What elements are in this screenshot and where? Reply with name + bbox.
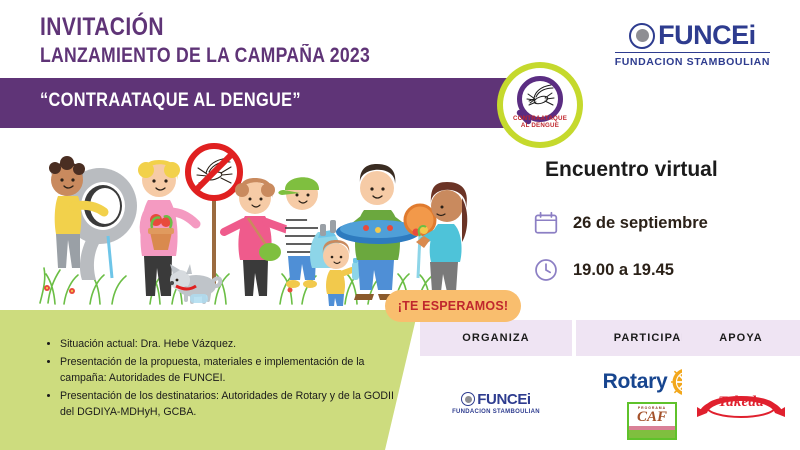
funcei-logo-row-small: FUNCEi [452,392,540,407]
list-item: Presentación de la propuesta, materiales… [60,354,396,386]
agenda-list: Situación actual: Dra. Hebe Vázquez. Pre… [46,336,396,422]
page-title: INVITACIÓN [40,14,370,40]
invitation-poster: INVITACIÓN LANZAMIENTO DE LA CAMPAÑA 202… [0,0,800,450]
sponsor-column-organiza: ORGANIZA FUNCEi FUNDACION STAMBOULIAN [420,320,572,450]
funcei-tagline: FUNDACION STAMBOULIAN [615,52,770,68]
event-title: Encuentro virtual [545,158,718,182]
child-with-tire [49,156,137,280]
funcei-wordmark: FUNCEi [658,22,756,49]
sponsor-heading-apoya: APOYA [682,320,800,356]
event-time: 19.00 a 19.45 [573,261,674,280]
header-titles: INVITACIÓN LANZAMIENTO DE LA CAMPAÑA 202… [40,14,433,68]
event-time-row: 19.00 a 19.45 [533,257,674,283]
sponsor-logos-apoya: Takeda [682,356,800,450]
caf-wordmark: CAF [629,410,675,425]
man-with-basin [336,164,420,300]
takeda-logo: Takeda [695,385,787,421]
funcei-tagline-small: FUNDACION STAMBOULIAN [452,409,540,415]
funcei-wordmark-small: FUNCEi [477,392,530,407]
event-date-row: 26 de septiembre [533,210,708,236]
calendar-icon [533,210,559,236]
sponsor-logos-organiza: FUNCEi FUNDACION STAMBOULIAN [420,356,572,450]
eye-circle-icon [461,392,475,406]
page-subtitle: LANZAMIENTO DE LA CAMPAÑA 2023 [40,44,370,68]
event-date: 26 de septiembre [573,214,708,233]
campaign-slogan: “CONTRAATAQUE AL DENGUE” [40,90,301,112]
te-esperamos-badge: ¡TE ESPERAMOS! [385,290,521,322]
caf-stripe-base [629,430,675,438]
toddler-with-bottle [323,240,359,306]
rotary-wordmark: Rotary [603,371,668,392]
badge-line-1: CONTRAATAQUE [503,115,577,123]
takeda-wordmark: Takeda [695,394,787,411]
list-item: Presentación de los destinatarios: Autor… [60,388,396,420]
eye-circle-icon [629,23,655,49]
funcei-logo: FUNCEi FUNDACION STAMBOULIAN [452,392,540,415]
sponsor-heading-organiza: ORGANIZA [420,320,572,356]
dengue-prevention-illustration [0,128,470,308]
no-mosquito-sign [188,146,240,288]
mosquito-icon [523,80,559,112]
campaign-badge-text: CONTRAATAQUE AL DENGUE [503,115,577,131]
clock-icon [533,257,559,283]
campaign-badge: CONTRAATAQUE AL DENGUE [497,62,583,148]
caf-logo: PROGRAMA CAF [627,402,677,440]
badge-line-2: AL DENGUE [503,122,577,130]
campaign-badge-inner: CONTRAATAQUE AL DENGUE [503,68,577,142]
funcei-header-logo: FUNCEi FUNDACION STAMBOULIAN [615,22,770,68]
sponsor-column-apoya: APOYA Takeda [682,320,800,450]
list-item: Situación actual: Dra. Hebe Vázquez. [60,336,396,352]
girl-with-shoulder-bag [224,178,288,296]
funcei-logo-row: FUNCEi [615,22,770,49]
